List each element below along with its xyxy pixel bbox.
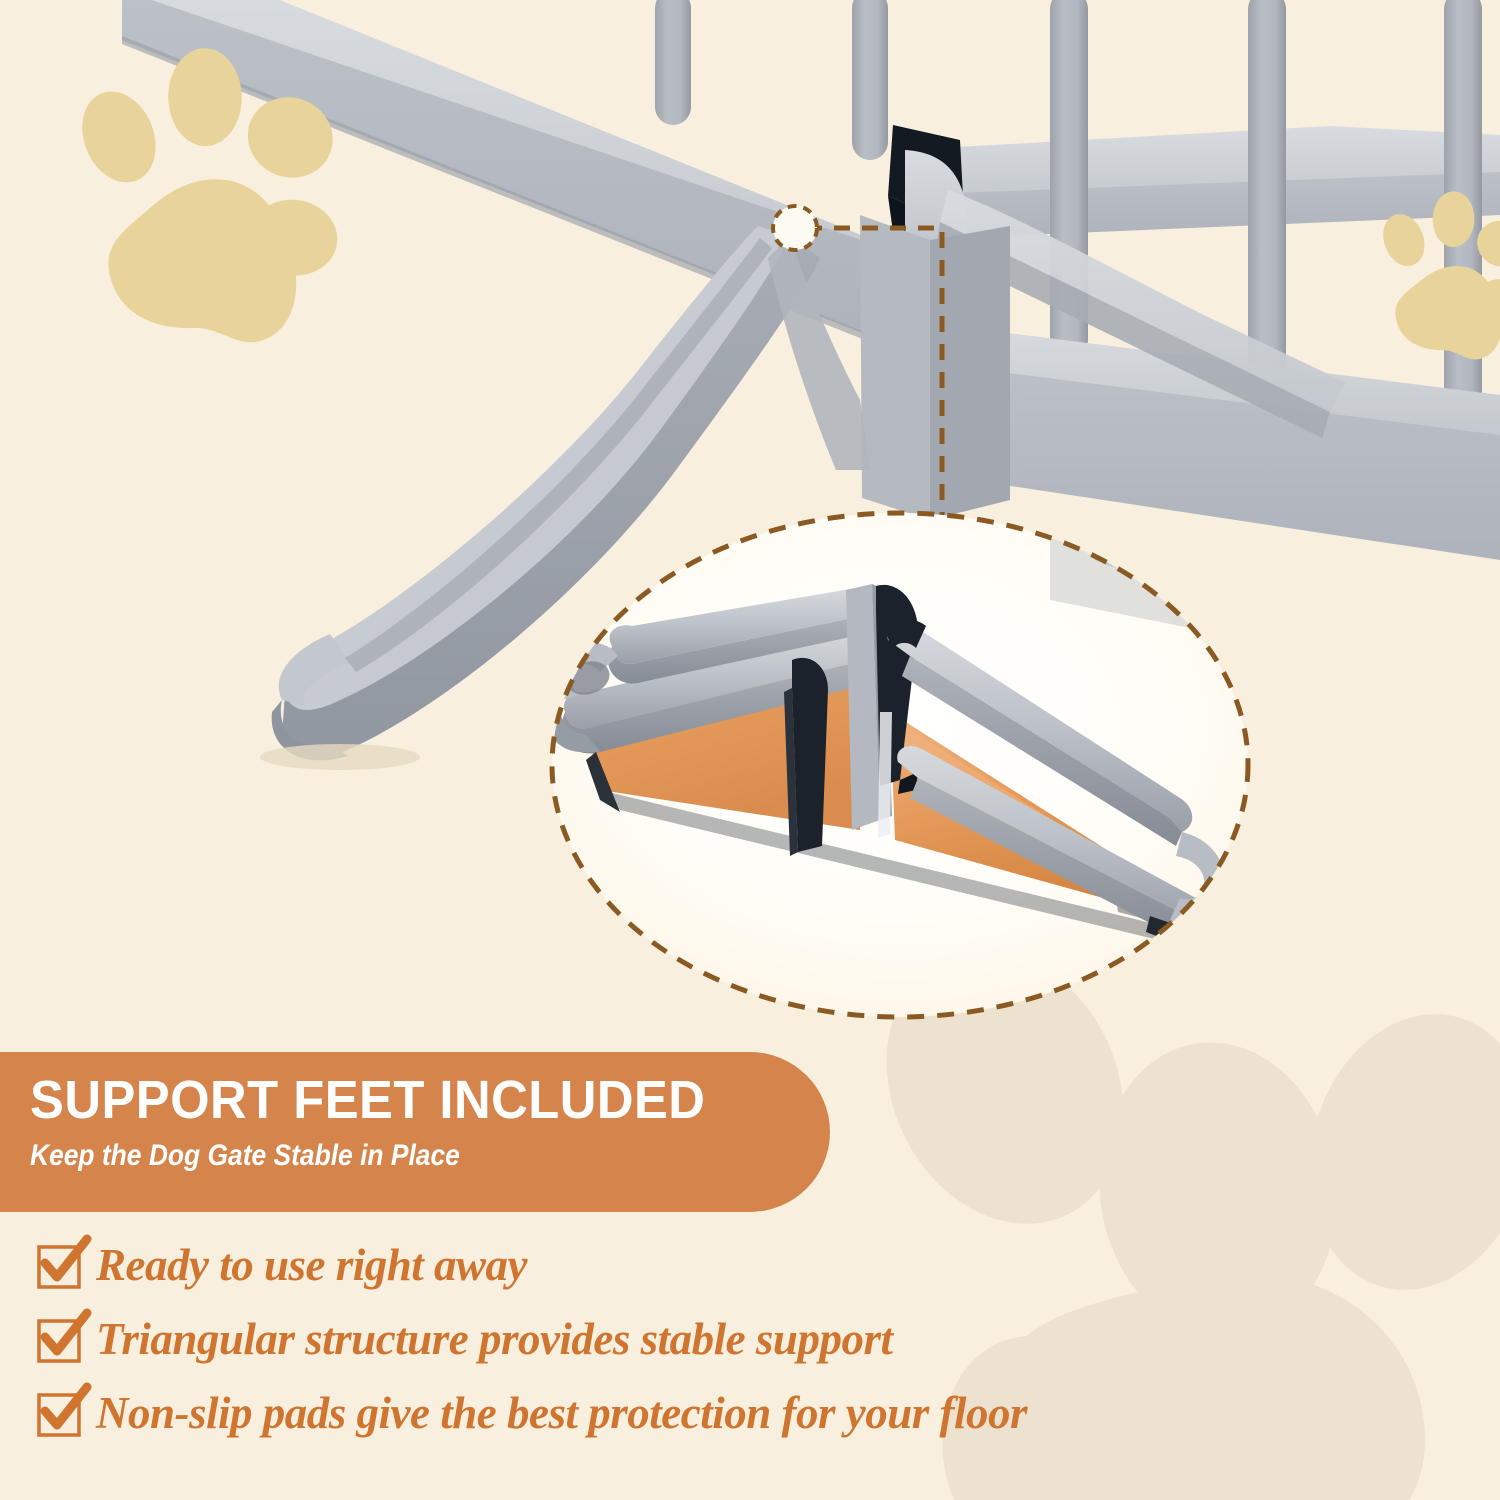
gate-main-post <box>860 215 1010 520</box>
feature-label: Triangular structure provides stable sup… <box>96 1313 892 1365</box>
checkbox-check-icon <box>38 1391 82 1435</box>
headline-banner: SUPPORT FEET INCLUDED Keep the Dog Gate … <box>0 1052 830 1212</box>
feature-item: Non-slip pads give the best protection f… <box>38 1382 1468 1444</box>
support-foot-nonslip-blade-center <box>792 658 828 852</box>
checkbox-check-icon <box>38 1317 82 1361</box>
callout-origin-marker <box>773 206 817 250</box>
feature-list: Ready to use right away Triangular struc… <box>38 1234 1468 1456</box>
feature-item: Ready to use right away <box>38 1234 1468 1296</box>
feature-label: Non-slip pads give the best protection f… <box>96 1387 1027 1439</box>
headline-subtitle: Keep the Dog Gate Stable in Place <box>30 1136 734 1176</box>
checkbox-check-icon <box>38 1243 82 1287</box>
headline-title: SUPPORT FEET INCLUDED <box>30 1070 782 1130</box>
feature-item: Triangular structure provides stable sup… <box>38 1308 1468 1370</box>
feature-label: Ready to use right away <box>96 1239 527 1291</box>
marketing-image: SUPPORT FEET INCLUDED Keep the Dog Gate … <box>0 0 1500 1500</box>
